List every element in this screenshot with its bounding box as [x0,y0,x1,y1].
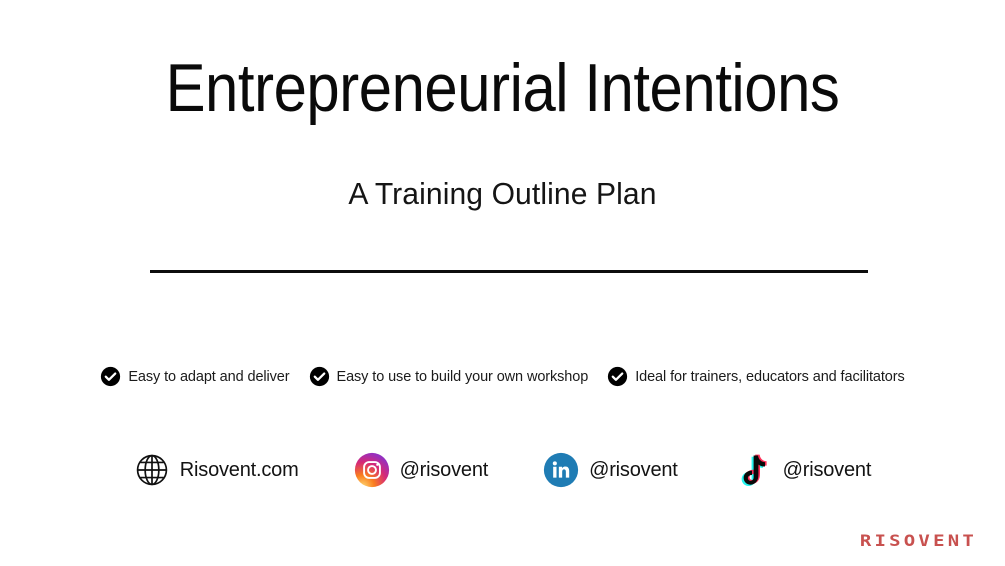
social-links: Risovent.com [0,450,1005,490]
linkedin-icon [543,452,579,488]
brand-logo: RISOVENT [860,532,977,550]
social-label: @risovent [400,459,489,482]
social-link-linkedin[interactable]: @risovent [543,452,678,488]
tiktok-icon [733,450,773,490]
feature-item: Easy to use to build your own workshop [309,366,589,387]
instagram-icon [354,452,390,488]
social-label: @risovent [589,459,678,482]
feature-label: Ideal for trainers, educators and facili… [635,369,904,385]
social-label: @risovent [783,459,872,482]
check-circle-icon [607,366,628,387]
globe-icon [134,452,170,488]
feature-item: Easy to adapt and deliver [100,366,289,387]
social-link-website[interactable]: Risovent.com [134,452,299,488]
feature-list: Easy to adapt and deliver Easy to use to… [0,366,1005,387]
feature-item: Ideal for trainers, educators and facili… [607,366,904,387]
social-link-instagram[interactable]: @risovent [354,452,489,488]
check-circle-icon [309,366,330,387]
page-subtitle: A Training Outline Plan [15,176,990,212]
social-link-tiktok[interactable]: @risovent [733,450,872,490]
check-circle-icon [100,366,121,387]
feature-label: Easy to adapt and deliver [128,369,289,385]
slide-canvas: Entrepreneurial Intentions A Training Ou… [0,0,1005,566]
feature-label: Easy to use to build your own workshop [337,369,589,385]
divider-rule [150,270,868,273]
social-label: Risovent.com [180,459,299,482]
page-title: Entrepreneurial Intentions [60,52,944,125]
